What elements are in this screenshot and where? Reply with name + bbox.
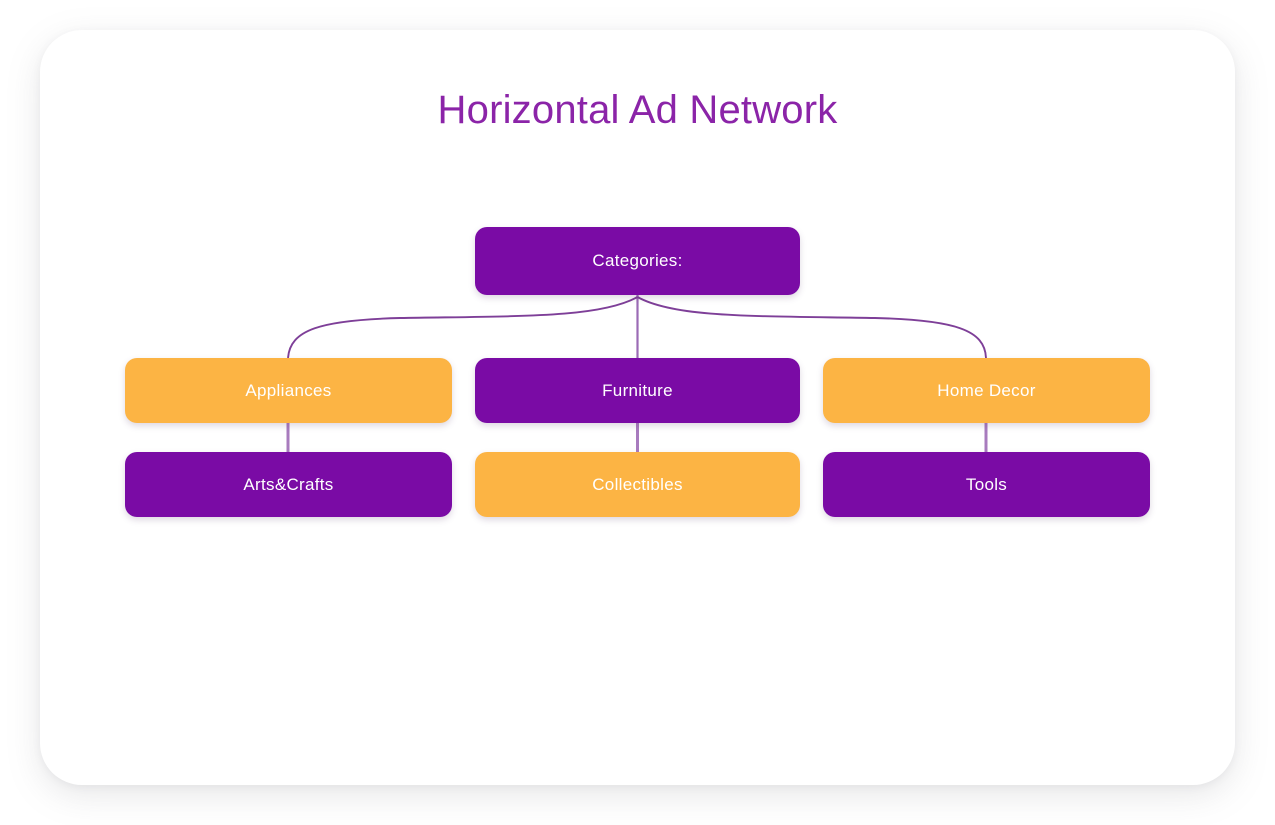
node-collectibles[interactable]: Collectibles (475, 452, 800, 517)
node-categories[interactable]: Categories: (475, 227, 800, 295)
node-furniture[interactable]: Furniture (475, 358, 800, 423)
page-title: Horizontal Ad Network (0, 88, 1275, 133)
node-label: Arts&Crafts (243, 475, 333, 495)
node-home-decor[interactable]: Home Decor (823, 358, 1150, 423)
node-appliances[interactable]: Appliances (125, 358, 452, 423)
node-label: Appliances (245, 381, 331, 401)
diagram-canvas: Horizontal Ad Network Categories: Applia… (0, 0, 1275, 825)
node-label: Home Decor (937, 381, 1035, 401)
node-label: Collectibles (592, 475, 683, 495)
node-arts-crafts[interactable]: Arts&Crafts (125, 452, 452, 517)
node-tools[interactable]: Tools (823, 452, 1150, 517)
node-label: Categories: (592, 251, 682, 271)
node-label: Tools (966, 475, 1007, 495)
node-label: Furniture (602, 381, 673, 401)
